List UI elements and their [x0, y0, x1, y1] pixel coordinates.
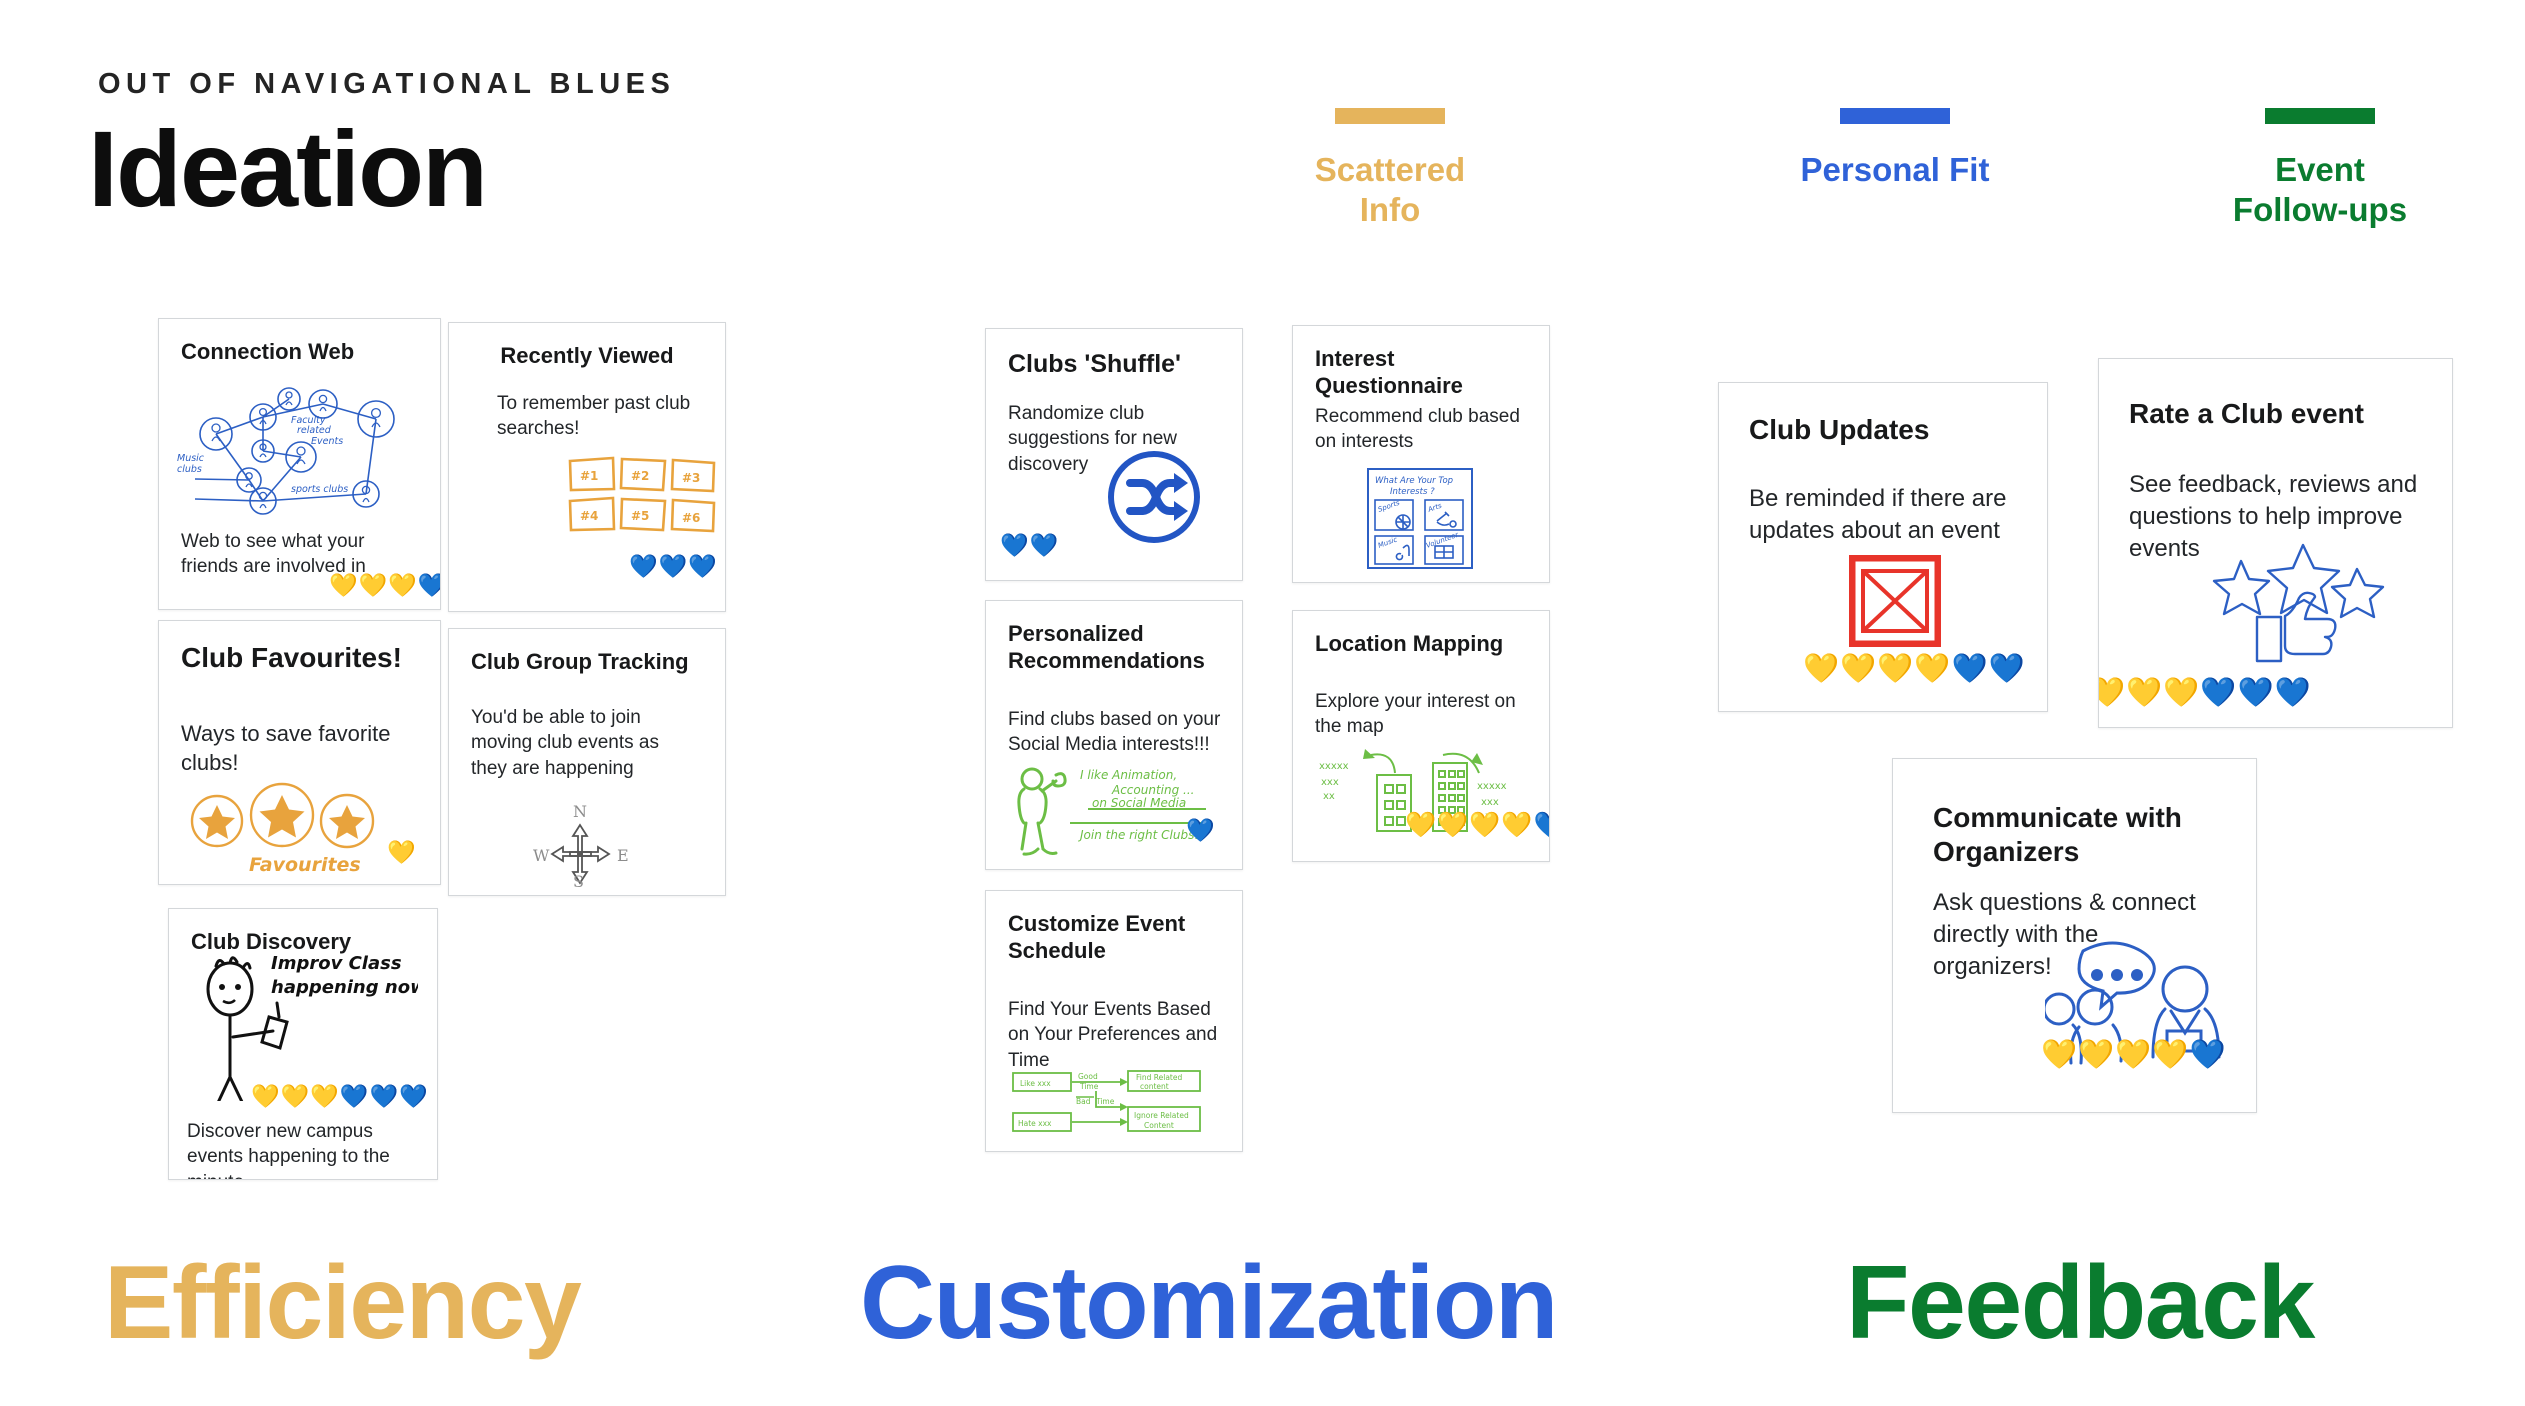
card-communicate-with-organizers[interactable]: Communicate with Organizers Ask question… — [1892, 758, 2257, 1113]
heart-blue: 💙 — [629, 555, 658, 578]
column-accent-bar — [2265, 108, 2375, 124]
heart-yellow: 💛 — [2041, 1041, 2077, 1070]
card-body: Find clubs based on your Social Media in… — [1008, 707, 1233, 758]
svg-text:happening now!: happening now! — [271, 977, 418, 998]
svg-text:Events: Events — [311, 436, 343, 447]
card-title: Club Updates — [1749, 413, 2025, 447]
heart-yellow: 💛 — [1469, 813, 1500, 838]
card-title: Clubs 'Shuffle' — [1008, 349, 1220, 380]
card-title: Customize Event Schedule — [1008, 911, 1220, 965]
card-interest-questionnaire[interactable]: Interest Questionnaire Recommend club ba… — [1292, 325, 1550, 583]
stick-figure-phone-sketch: Improv Class happening now! — [183, 951, 418, 1101]
svg-text:Time: Time — [1079, 1082, 1099, 1091]
heart-blue: 💙 — [688, 555, 717, 578]
heart-yellow: 💛 — [1840, 655, 1876, 684]
heart-blue: 💙 — [2189, 1041, 2225, 1070]
card-body: Explore your interest on the map — [1315, 689, 1540, 740]
svg-text:Improv Class: Improv Class — [271, 953, 402, 974]
heart-blue: 💙 — [370, 1085, 399, 1108]
recent-cards-grid-sketch: #1#2#3 #4#5#6 — [567, 455, 717, 535]
card-club-updates[interactable]: Club Updates Be reminded if there are up… — [1718, 382, 2048, 712]
column-accent-bar — [1335, 108, 1445, 124]
svg-text:Bad: Bad — [1076, 1097, 1091, 1106]
heart-yellow: 💛 — [1877, 655, 1913, 684]
heart-blue: 💙 — [2200, 679, 2236, 708]
heart-blue: 💙 — [1030, 534, 1059, 557]
svg-text:xxx: xxx — [1481, 797, 1499, 808]
svg-text:Hate xxx: Hate xxx — [1018, 1119, 1052, 1128]
svg-text:xxxxx: xxxxx — [1319, 761, 1349, 772]
heart-yellow: 💛 — [1405, 813, 1436, 838]
svg-text:#5: #5 — [631, 509, 649, 523]
svg-text:E: E — [617, 846, 629, 865]
heart-yellow: 💛 — [1437, 813, 1468, 838]
vote-hearts: 💛 💛 💛 💛 💙 — [1405, 813, 1550, 838]
svg-text:N: N — [573, 802, 587, 821]
stars-thumbsup-sketch — [2205, 543, 2395, 673]
questionnaire-sketch: What Are Your Top Interests ? Sports Art… — [1365, 466, 1475, 571]
svg-text:Ignore Related: Ignore Related — [1134, 1111, 1189, 1120]
heart-yellow: 💛 — [251, 1085, 280, 1108]
heart-blue: 💙 — [340, 1085, 369, 1108]
card-personalized-recommendations[interactable]: Personalized Recommendations Find clubs … — [985, 600, 1243, 870]
vote-hearts: 💛 💛 💛 💙 — [329, 574, 441, 597]
heart-yellow: 💛 — [2078, 1041, 2114, 1070]
svg-text:What Are Your Top: What Are Your Top — [1375, 476, 1453, 486]
heart-blue: 💙 — [2237, 679, 2273, 708]
heart-yellow: 💛 — [329, 574, 358, 597]
card-body: Find Your Events Based on Your Preferenc… — [1008, 997, 1236, 1073]
heart-yellow: 💛 — [1501, 813, 1532, 838]
svg-text:xxxxx: xxxxx — [1477, 781, 1507, 792]
vote-hearts: 💛 💛 💛 💛 💙 💙 — [1803, 655, 2025, 684]
page-title: Ideation — [88, 112, 486, 225]
ideation-board: OUT OF NAVIGATIONAL BLUES Ideation Scatt… — [0, 0, 2525, 1406]
card-title: Rate a Club event — [2129, 397, 2430, 431]
compass-rose-sketch: NW ES — [517, 795, 647, 890]
card-body: You'd be able to join moving club events… — [471, 705, 696, 781]
card-body: To remember past club searches! — [497, 391, 697, 442]
heart-blue: 💙 — [1989, 655, 2025, 684]
heart-yellow: 💛 — [1803, 655, 1839, 684]
svg-text:clubs: clubs — [177, 464, 202, 475]
svg-text:sports clubs: sports clubs — [291, 484, 348, 495]
card-club-discovery[interactable]: Club Discovery Improv Class happening no… — [168, 908, 438, 1180]
card-title: Location Mapping — [1315, 631, 1527, 658]
card-body: Be reminded if there are updates about a… — [1749, 483, 2029, 547]
heart-yellow: 💛 — [387, 841, 416, 864]
column-accent-bar — [1840, 108, 1950, 124]
star-badges-sketch: Favourites — [185, 781, 400, 876]
heart-yellow: 💛 — [388, 574, 417, 597]
svg-text:Volunteer: Volunteer — [1425, 530, 1460, 549]
card-body: Discover new campus events happening to … — [187, 1119, 432, 1180]
card-body: Recommend club based on interests — [1315, 404, 1540, 455]
footer-word-customization: Customization — [860, 1244, 1557, 1363]
svg-text:Time: Time — [1095, 1097, 1115, 1106]
svg-text:Music: Music — [177, 453, 205, 464]
svg-text:#1: #1 — [580, 469, 598, 483]
card-clubs-shuffle[interactable]: Clubs 'Shuffle' Randomize club suggestio… — [985, 328, 1243, 581]
card-title: Connection Web — [181, 339, 418, 366]
column-header-label-line2: Info — [1290, 190, 1490, 230]
svg-text:Favourites: Favourites — [249, 854, 361, 876]
vote-hearts: 💙 💙 💙 — [629, 555, 717, 578]
svg-text:xxx: xxx — [1321, 777, 1339, 788]
svg-text:Content: Content — [1144, 1121, 1174, 1130]
svg-text:#4: #4 — [580, 509, 598, 523]
green-flowchart-sketch: Like xxx GoodTime Find Relatedcontent Ba… — [1010, 1069, 1225, 1139]
card-title: Interest Questionnaire — [1315, 346, 1527, 400]
heart-yellow: 💛 — [2126, 679, 2162, 708]
heart-blue: 💙 — [1000, 534, 1029, 557]
svg-text:Good: Good — [1078, 1072, 1098, 1081]
svg-text:Accounting ...: Accounting ... — [1111, 783, 1194, 797]
card-rate-a-club-event[interactable]: Rate a Club event See feedback, reviews … — [2098, 358, 2453, 728]
card-title: Club Group Tracking — [471, 649, 703, 676]
heart-blue: 💙 — [1534, 813, 1550, 838]
svg-text:W: W — [533, 846, 550, 865]
footer-word-feedback: Feedback — [1846, 1244, 2314, 1363]
column-header-label-line1: Personal Fit — [1770, 150, 2020, 190]
shuffle-icon — [1104, 447, 1204, 547]
heart-blue: 💙 — [418, 574, 441, 597]
vote-hearts: 💛 💛 💛 💙 💙 💙 — [2098, 679, 2311, 708]
column-header-scattered-info: Scattered Info — [1290, 108, 1490, 231]
heart-blue: 💙 — [659, 555, 688, 578]
heart-yellow: 💛 — [2152, 1041, 2188, 1070]
svg-text:#6: #6 — [682, 511, 700, 525]
svg-text:Arts: Arts — [1426, 501, 1443, 514]
card-body: Ways to save favorite clubs! — [181, 719, 411, 778]
svg-text:S: S — [573, 872, 584, 890]
column-header-personal-fit: Personal Fit — [1770, 108, 2020, 190]
eyebrow-label: OUT OF NAVIGATIONAL BLUES — [98, 68, 675, 101]
svg-text:Like xxx: Like xxx — [1020, 1079, 1051, 1088]
column-header-event-followups: Event Follow-ups — [2190, 108, 2450, 231]
svg-text:Music: Music — [1377, 535, 1399, 549]
svg-text:Join the right Clubs!: Join the right Clubs! — [1078, 828, 1199, 842]
svg-text:Interests ?: Interests ? — [1390, 487, 1435, 497]
card-title: Communicate with Organizers — [1933, 801, 2233, 869]
svg-text:xx: xx — [1323, 791, 1335, 802]
card-title: Personalized Recommendations — [1008, 621, 1220, 675]
vote-hearts: 💛 💛 💛 💙 💙 💙 — [251, 1085, 428, 1108]
card-connection-web[interactable]: Connection Web — [158, 318, 441, 610]
heart-blue: 💙 — [399, 1085, 428, 1108]
card-title: Club Favourites! — [181, 641, 418, 675]
heart-yellow: 💛 — [1914, 655, 1950, 684]
svg-text:Sports: Sports — [1377, 499, 1401, 514]
heart-yellow: 💛 — [281, 1085, 310, 1108]
svg-text:#3: #3 — [682, 471, 700, 485]
heart-yellow: 💛 — [310, 1085, 339, 1108]
heart-yellow: 💛 — [2115, 1041, 2151, 1070]
svg-text:#2: #2 — [631, 469, 649, 483]
column-header-label-line1: Event — [2190, 150, 2450, 190]
vote-hearts: 💛 — [387, 841, 416, 864]
svg-text:Find Related: Find Related — [1136, 1073, 1182, 1082]
card-customize-event-schedule[interactable]: Customize Event Schedule Find Your Event… — [985, 890, 1243, 1152]
vote-hearts: 💙 — [1186, 819, 1215, 842]
svg-text:on Social Media: on Social Media — [1092, 796, 1186, 810]
heart-blue: 💙 — [1951, 655, 1987, 684]
card-title: Recently Viewed — [471, 343, 703, 370]
vote-hearts: 💛 💛 💛 💛 💙 — [2041, 1041, 2226, 1070]
svg-text:content: content — [1140, 1082, 1169, 1091]
heart-blue: 💙 — [1186, 819, 1215, 842]
svg-text:I like Animation,: I like Animation, — [1080, 768, 1177, 782]
network-diagram-sketch: Faculty related Events Music clubs sport… — [171, 379, 431, 519]
card-club-favourites[interactable]: Club Favourites! Ways to save favorite c… — [158, 620, 441, 885]
broken-image-icon — [1849, 555, 1941, 647]
green-person-social-sketch: I like Animation, Accounting ... on Soci… — [1008, 765, 1228, 860]
card-club-group-tracking[interactable]: Club Group Tracking You'd be able to joi… — [448, 628, 726, 896]
heart-yellow: 💛 — [2098, 679, 2125, 708]
vote-hearts: 💙 💙 — [1000, 534, 1058, 557]
heart-yellow: 💛 — [359, 574, 388, 597]
svg-text:related: related — [297, 425, 332, 436]
footer-word-efficiency: Efficiency — [104, 1244, 580, 1363]
heart-yellow: 💛 — [2163, 679, 2199, 708]
column-header-label-line2: Follow-ups — [2190, 190, 2450, 230]
column-header-label-line1: Scattered — [1290, 150, 1490, 190]
heart-blue: 💙 — [2275, 679, 2311, 708]
card-recently-viewed[interactable]: Recently Viewed To remember past club se… — [448, 322, 726, 612]
card-location-mapping[interactable]: Location Mapping Explore your interest o… — [1292, 610, 1550, 862]
